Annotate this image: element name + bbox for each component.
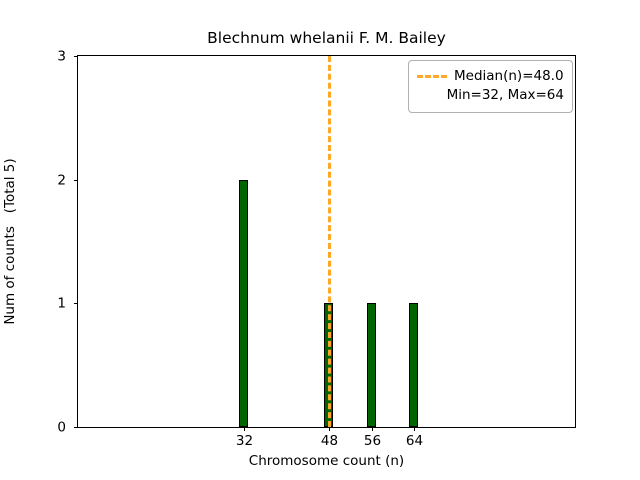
y-tick-label-1: 1 xyxy=(57,298,66,312)
x-axis-label: Chromosome count (n) xyxy=(77,453,576,469)
chart-figure: Blechnum whelanii F. M. Bailey 0 1 2 3 3… xyxy=(0,0,640,480)
x-tick-label-64: 64 xyxy=(406,434,423,448)
y-tick-label-0: 0 xyxy=(57,421,66,435)
y-tick-0: 0 xyxy=(74,427,78,428)
legend-label-median: Median(n)=48.0 xyxy=(454,69,564,84)
bar-32 xyxy=(239,180,248,427)
y-tick-3: 3 xyxy=(74,56,78,57)
y-tick-label-2: 2 xyxy=(57,174,66,188)
bar-56 xyxy=(367,303,376,427)
chart-title: Blechnum whelanii F. M. Bailey xyxy=(77,29,576,48)
bar-64 xyxy=(409,303,418,427)
y-tick-label-3: 3 xyxy=(57,50,66,64)
median-reference-line xyxy=(328,56,331,427)
y-tick-1: 1 xyxy=(74,303,78,304)
x-tick-label-48: 48 xyxy=(321,434,338,448)
x-tick-48: 48 xyxy=(329,427,330,431)
x-tick-32: 32 xyxy=(244,427,245,431)
x-tick-64: 64 xyxy=(414,427,415,431)
x-tick-label-32: 32 xyxy=(236,434,253,448)
y-tick-2: 2 xyxy=(74,180,78,181)
legend-label-minmax: Min=32, Max=64 xyxy=(447,88,564,103)
legend: Median(n)=48.0 Min=32, Max=64 xyxy=(408,60,573,113)
y-axis-label: Num of counts (Total 5) xyxy=(0,55,20,428)
legend-entry-median: Median(n)=48.0 xyxy=(417,67,564,86)
x-tick-label-56: 56 xyxy=(364,434,381,448)
legend-entry-minmax: Min=32, Max=64 xyxy=(417,86,564,105)
x-tick-56: 56 xyxy=(372,427,373,431)
legend-dashed-line-icon xyxy=(417,75,447,78)
